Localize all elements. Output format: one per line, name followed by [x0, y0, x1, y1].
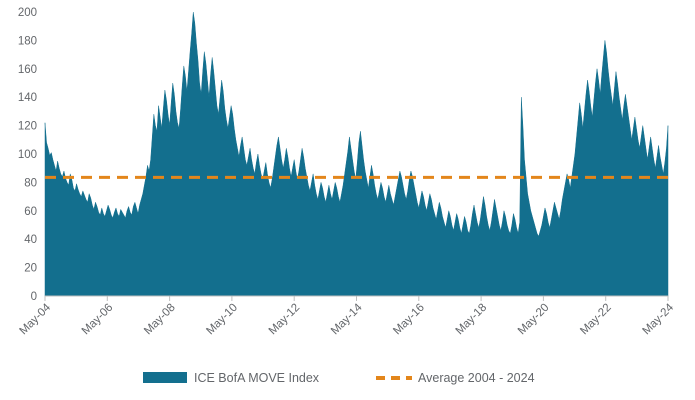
y-tick-label: 200 [18, 7, 37, 19]
x-tick-label: May-08 [142, 302, 178, 338]
legend-swatch-move-index[interactable] [143, 372, 187, 383]
y-tick-label: 60 [24, 206, 37, 218]
series-area-ice-bofa-move-index [45, 12, 668, 296]
x-tick-label: May-14 [329, 301, 365, 337]
y-tick-label: 40 [24, 234, 37, 246]
x-tick-label: May-18 [454, 302, 490, 338]
chart-legend: ICE BofA MOVE IndexAverage 2004 - 2024 [143, 371, 535, 385]
chart-plot-area: 020406080100120140160180200May-04May-06M… [0, 0, 695, 400]
x-tick-label: May-10 [204, 302, 240, 338]
legend-label-move-index[interactable]: ICE BofA MOVE Index [194, 371, 320, 385]
y-tick-label: 80 [24, 177, 37, 189]
y-tick-label: 180 [18, 35, 37, 47]
x-tick-label: May-04 [18, 301, 54, 337]
y-axis: 020406080100120140160180200 [18, 7, 37, 303]
y-tick-label: 160 [18, 64, 37, 76]
y-tick-label: 0 [31, 291, 37, 303]
x-tick-label: May-16 [391, 302, 427, 338]
x-tick-label: May-22 [578, 302, 614, 338]
y-tick-label: 120 [18, 121, 37, 133]
y-tick-label: 140 [18, 92, 37, 104]
x-tick-label: May-12 [267, 302, 303, 338]
x-tick-label: May-20 [516, 302, 552, 338]
chart-container: 020406080100120140160180200May-04May-06M… [0, 0, 695, 400]
legend-label-average[interactable]: Average 2004 - 2024 [418, 371, 535, 385]
x-tick-label: May-24 [641, 301, 677, 337]
move-index-area-chart: 020406080100120140160180200May-04May-06M… [0, 0, 695, 400]
y-tick-label: 20 [24, 263, 37, 275]
x-tick-label: May-06 [80, 302, 116, 338]
x-axis: May-04May-06May-08May-10May-12May-14May-… [18, 296, 677, 337]
y-tick-label: 100 [18, 149, 37, 161]
